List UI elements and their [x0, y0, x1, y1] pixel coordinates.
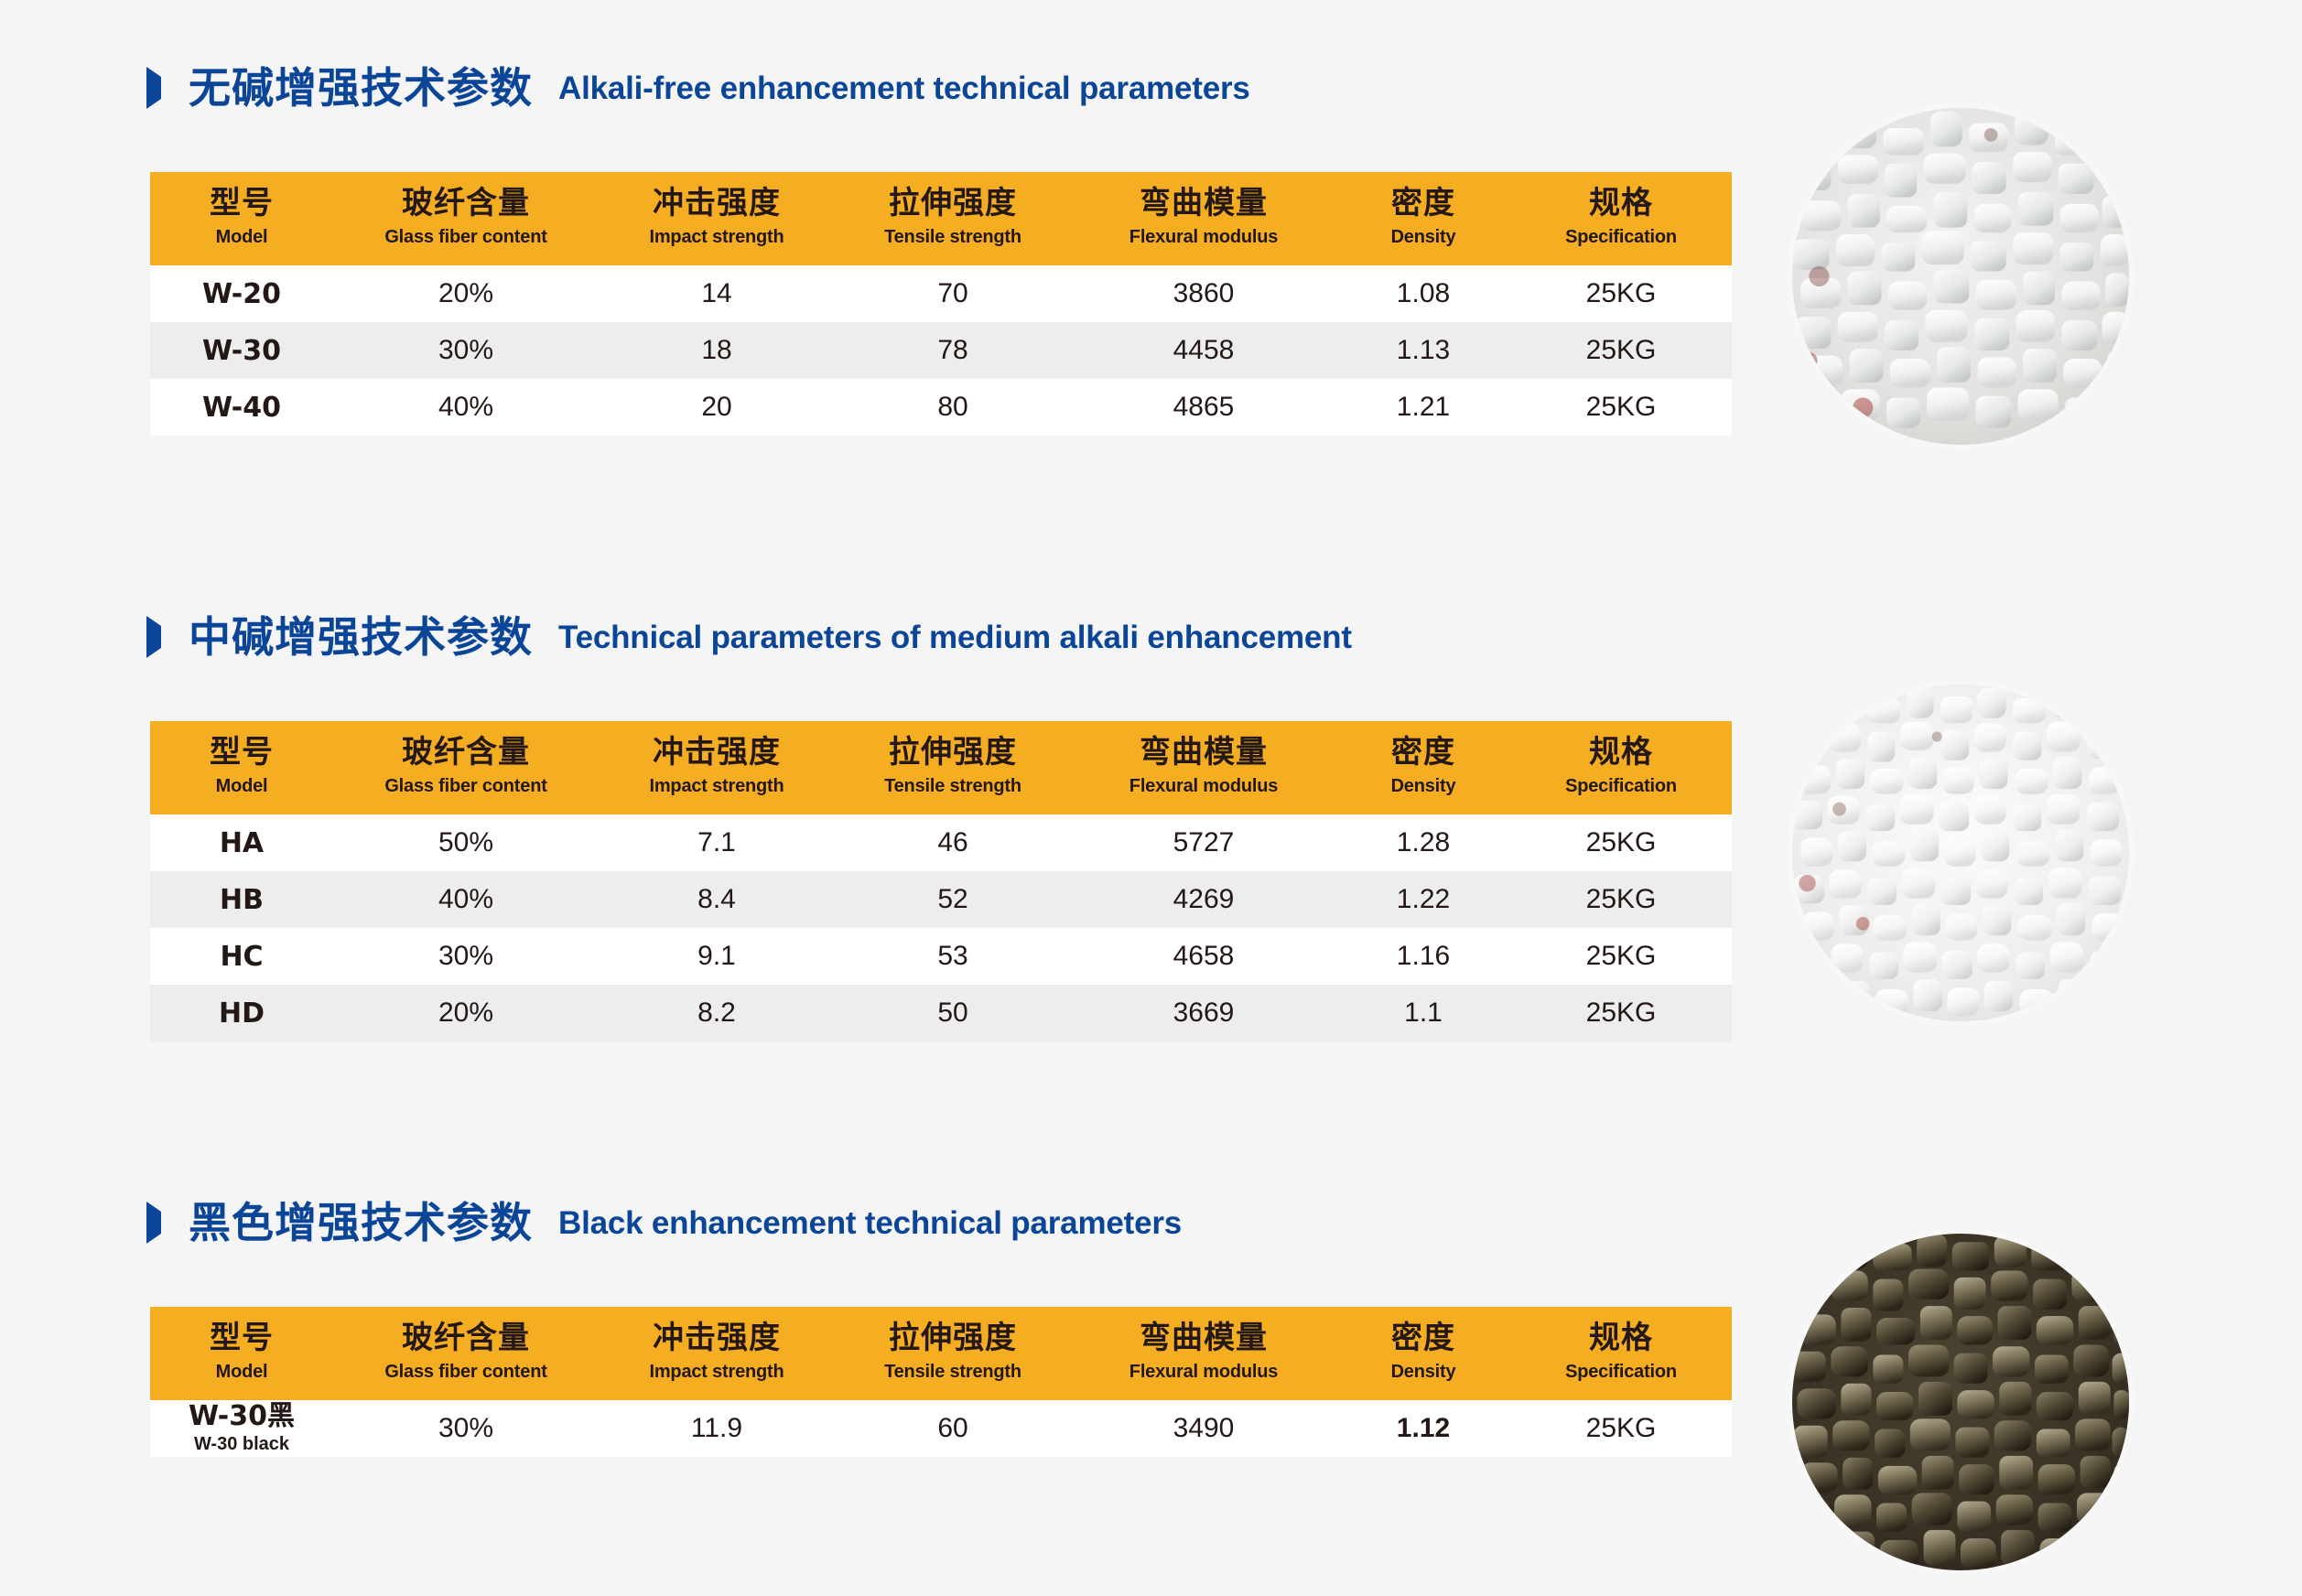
col-header-impact-strength: 冲击强度 Impact strength [599, 172, 835, 265]
table-row: W-20 20% 14 70 3860 1.08 25KG [150, 265, 1732, 322]
table-row: HB 40% 8.4 52 4269 1.22 25KG [150, 871, 1732, 928]
table-row: W-40 40% 20 80 4865 1.21 25KG [150, 379, 1732, 436]
table-row: HA 50% 7.1 46 5727 1.28 25KG [150, 814, 1732, 871]
cell-glass-fiber-content: 40% [333, 379, 599, 436]
spec-table-container: 型号 Model 玻纤含量 Glass fiber content 冲击强度 I… [150, 172, 1732, 436]
col-header-cn: 型号 [150, 734, 333, 771]
table-header: 型号 Model 玻纤含量 Glass fiber content 冲击强度 I… [150, 172, 1732, 265]
cell-model: W-40 [150, 379, 333, 436]
cell-density: 1.22 [1336, 871, 1510, 928]
table-body: W-20 20% 14 70 3860 1.08 25KG W-30 30% 1… [150, 265, 1732, 436]
cell-model: HD [150, 985, 333, 1041]
col-header-cn: 拉伸强度 [835, 1320, 1071, 1356]
col-header-specification: 规格 Specification [1510, 172, 1732, 265]
cell-specification: 25KG [1510, 1400, 1732, 1457]
cell-impact-strength: 9.1 [599, 928, 835, 985]
col-header-en: Flexural modulus [1071, 772, 1336, 800]
cell-impact-strength: 18 [599, 322, 835, 379]
cell-glass-fiber-content: 30% [333, 322, 599, 379]
section-title-cn: 中碱增强技术参数 [189, 616, 533, 658]
col-header-en: Density [1336, 1358, 1510, 1386]
model-name: HA [150, 828, 333, 858]
cell-tensile-strength: 50 [835, 985, 1071, 1041]
cell-flexural-modulus: 4658 [1071, 928, 1336, 985]
col-header-cn: 规格 [1510, 1320, 1732, 1356]
cell-density: 1.16 [1336, 928, 1510, 985]
col-header-cn: 冲击强度 [599, 185, 835, 221]
col-header-cn: 型号 [150, 1320, 333, 1356]
col-header-en: Model [150, 1358, 333, 1386]
col-header-en: Tensile strength [835, 1358, 1071, 1386]
col-header-en: Model [150, 223, 333, 251]
cell-glass-fiber-content: 20% [333, 985, 599, 1041]
section-title-en: Black enhancement technical parameters [558, 1207, 1182, 1239]
col-header-model: 型号 Model [150, 172, 333, 265]
cell-glass-fiber-content: 50% [333, 814, 599, 871]
model-name: W-40 [150, 393, 333, 423]
section-title-en: Technical parameters of medium alkali en… [558, 621, 1352, 653]
col-header-en: Specification [1510, 223, 1732, 251]
col-header-en: Tensile strength [835, 772, 1071, 800]
cell-specification: 25KG [1510, 322, 1732, 379]
col-header-cn: 规格 [1510, 734, 1732, 771]
col-header-en: Glass fiber content [333, 223, 599, 251]
section-medium-alkali: 中碱增强技术参数 Technical parameters of medium … [0, 604, 2302, 670]
cell-density: 1.12 [1336, 1400, 1510, 1457]
cell-specification: 25KG [1510, 379, 1732, 436]
cell-specification: 25KG [1510, 871, 1732, 928]
col-header-density: 密度 Density [1336, 1307, 1510, 1400]
table-header: 型号 Model 玻纤含量 Glass fiber content 冲击强度 I… [150, 721, 1732, 814]
spec-table: 型号 Model 玻纤含量 Glass fiber content 冲击强度 I… [150, 1307, 1732, 1457]
cell-tensile-strength: 78 [835, 322, 1071, 379]
col-header-en: Specification [1510, 772, 1732, 800]
col-header-cn: 玻纤含量 [333, 1320, 599, 1356]
table-row: W-30 30% 18 78 4458 1.13 25KG [150, 322, 1732, 379]
col-header-model: 型号 Model [150, 1307, 333, 1400]
col-header-specification: 规格 Specification [1510, 1307, 1732, 1400]
cell-specification: 25KG [1510, 985, 1732, 1041]
col-header-specification: 规格 Specification [1510, 721, 1732, 814]
cell-tensile-strength: 52 [835, 871, 1071, 928]
col-header-glass-fiber-content: 玻纤含量 Glass fiber content [333, 1307, 599, 1400]
spec-table: 型号 Model 玻纤含量 Glass fiber content 冲击强度 I… [150, 721, 1732, 1041]
cell-impact-strength: 20 [599, 379, 835, 436]
col-header-cn: 规格 [1510, 185, 1732, 221]
col-header-tensile-strength: 拉伸强度 Tensile strength [835, 721, 1071, 814]
col-header-en: Glass fiber content [333, 1358, 599, 1386]
col-header-cn: 密度 [1336, 734, 1510, 771]
section-heading: 中碱增强技术参数 Technical parameters of medium … [146, 604, 2302, 670]
cell-model: HC [150, 928, 333, 985]
table-row: HC 30% 9.1 53 4658 1.16 25KG [150, 928, 1732, 985]
col-header-en: Tensile strength [835, 223, 1071, 251]
triangle-right-icon [146, 67, 167, 109]
col-header-en: Specification [1510, 1358, 1732, 1386]
cell-flexural-modulus: 5727 [1071, 814, 1336, 871]
table-header: 型号 Model 玻纤含量 Glass fiber content 冲击强度 I… [150, 1307, 1732, 1400]
model-name: W-30黑 [150, 1401, 333, 1431]
cell-flexural-modulus: 4269 [1071, 871, 1336, 928]
header-row: 型号 Model 玻纤含量 Glass fiber content 冲击强度 I… [150, 1307, 1732, 1400]
cell-flexural-modulus: 3490 [1071, 1400, 1336, 1457]
cell-model: HB [150, 871, 333, 928]
cell-impact-strength: 7.1 [599, 814, 835, 871]
col-header-impact-strength: 冲击强度 Impact strength [599, 721, 835, 814]
triangle-right-icon [146, 616, 167, 658]
col-header-en: Model [150, 772, 333, 800]
spec-table-container: 型号 Model 玻纤含量 Glass fiber content 冲击强度 I… [150, 1307, 1732, 1457]
white-pellets-image [1792, 108, 2129, 445]
model-name: HC [150, 942, 333, 972]
col-header-cn: 弯曲模量 [1071, 734, 1336, 771]
cell-flexural-modulus: 3669 [1071, 985, 1336, 1041]
cell-glass-fiber-content: 30% [333, 928, 599, 985]
black-pellets-photo [1792, 1234, 2129, 1570]
col-header-en: Impact strength [599, 772, 835, 800]
col-header-cn: 玻纤含量 [333, 185, 599, 221]
col-header-en: Impact strength [599, 1358, 835, 1386]
triangle-right-icon [146, 1202, 167, 1244]
cell-model: W-20 [150, 265, 333, 322]
col-header-cn: 冲击强度 [599, 1320, 835, 1356]
cell-glass-fiber-content: 20% [333, 265, 599, 322]
cell-model: HA [150, 814, 333, 871]
header-row: 型号 Model 玻纤含量 Glass fiber content 冲击强度 I… [150, 721, 1732, 814]
cell-density: 1.21 [1336, 379, 1510, 436]
col-header-glass-fiber-content: 玻纤含量 Glass fiber content [333, 172, 599, 265]
col-header-cn: 弯曲模量 [1071, 185, 1336, 221]
cell-flexural-modulus: 3860 [1071, 265, 1336, 322]
col-header-impact-strength: 冲击强度 Impact strength [599, 1307, 835, 1400]
col-header-cn: 弯曲模量 [1071, 1320, 1336, 1356]
cell-density: 1.28 [1336, 814, 1510, 871]
cell-impact-strength: 8.4 [599, 871, 835, 928]
model-name: W-20 [150, 279, 333, 309]
cell-flexural-modulus: 4865 [1071, 379, 1336, 436]
col-header-flexural-modulus: 弯曲模量 Flexural modulus [1071, 172, 1336, 265]
cell-model: W-30黑 W-30 black [150, 1400, 333, 1457]
cell-flexural-modulus: 4458 [1071, 322, 1336, 379]
col-header-glass-fiber-content: 玻纤含量 Glass fiber content [333, 721, 599, 814]
col-header-en: Glass fiber content [333, 772, 599, 800]
col-header-en: Density [1336, 772, 1510, 800]
section-title-cn: 黑色增强技术参数 [189, 1202, 533, 1244]
col-header-en: Density [1336, 223, 1510, 251]
model-name: W-30 [150, 336, 333, 366]
col-header-cn: 冲击强度 [599, 734, 835, 771]
cell-density: 1.13 [1336, 322, 1510, 379]
col-header-flexural-modulus: 弯曲模量 Flexural modulus [1071, 721, 1336, 814]
spec-table: 型号 Model 玻纤含量 Glass fiber content 冲击强度 I… [150, 172, 1732, 436]
col-header-cn: 型号 [150, 185, 333, 221]
col-header-cn: 密度 [1336, 1320, 1510, 1356]
table-row: W-30黑 W-30 black 30% 11.9 60 3490 1.12 2… [150, 1400, 1732, 1457]
cell-specification: 25KG [1510, 814, 1732, 871]
table-body: HA 50% 7.1 46 5727 1.28 25KG HB 40% 8.4 … [150, 814, 1732, 1041]
cell-tensile-strength: 46 [835, 814, 1071, 871]
model-name: HD [150, 998, 333, 1029]
table-row: HD 20% 8.2 50 3669 1.1 25KG [150, 985, 1732, 1041]
col-header-en: Impact strength [599, 223, 835, 251]
col-header-tensile-strength: 拉伸强度 Tensile strength [835, 172, 1071, 265]
cell-impact-strength: 8.2 [599, 985, 835, 1041]
cell-specification: 25KG [1510, 265, 1732, 322]
col-header-density: 密度 Density [1336, 721, 1510, 814]
col-header-tensile-strength: 拉伸强度 Tensile strength [835, 1307, 1071, 1400]
cell-model: W-30 [150, 322, 333, 379]
cell-density: 1.08 [1336, 265, 1510, 322]
cell-glass-fiber-content: 40% [333, 871, 599, 928]
col-header-cn: 拉伸强度 [835, 734, 1071, 771]
cell-specification: 25KG [1510, 928, 1732, 985]
col-header-en: Flexural modulus [1071, 1358, 1336, 1386]
header-row: 型号 Model 玻纤含量 Glass fiber content 冲击强度 I… [150, 172, 1732, 265]
cell-tensile-strength: 53 [835, 928, 1071, 985]
spec-table-container: 型号 Model 玻纤含量 Glass fiber content 冲击强度 I… [150, 721, 1732, 1041]
white-pellets-image [1792, 685, 2129, 1021]
cell-tensile-strength: 60 [835, 1400, 1071, 1457]
cell-impact-strength: 14 [599, 265, 835, 322]
cell-tensile-strength: 80 [835, 379, 1071, 436]
col-header-density: 密度 Density [1336, 172, 1510, 265]
table-body: W-30黑 W-30 black 30% 11.9 60 3490 1.12 2… [150, 1400, 1732, 1457]
col-header-cn: 密度 [1336, 185, 1510, 221]
section-title-en: Alkali-free enhancement technical parame… [558, 72, 1250, 104]
cell-glass-fiber-content: 30% [333, 1400, 599, 1457]
cell-tensile-strength: 70 [835, 265, 1071, 322]
section-title-cn: 无碱增强技术参数 [189, 67, 533, 109]
cell-impact-strength: 11.9 [599, 1400, 835, 1457]
col-header-en: Flexural modulus [1071, 223, 1336, 251]
white-pellets-photo [1792, 685, 2129, 1021]
col-header-model: 型号 Model [150, 721, 333, 814]
model-name-en: W-30 black [150, 1432, 333, 1457]
black-pellets-image [1792, 1234, 2129, 1570]
col-header-cn: 拉伸强度 [835, 185, 1071, 221]
col-header-cn: 玻纤含量 [333, 734, 599, 771]
spec-sheet-page: 无碱增强技术参数 Alkali-free enhancement technic… [0, 0, 2302, 1596]
col-header-flexural-modulus: 弯曲模量 Flexural modulus [1071, 1307, 1336, 1400]
cell-density: 1.1 [1336, 985, 1510, 1041]
white-pellets-photo [1792, 108, 2129, 445]
model-name: HB [150, 885, 333, 915]
